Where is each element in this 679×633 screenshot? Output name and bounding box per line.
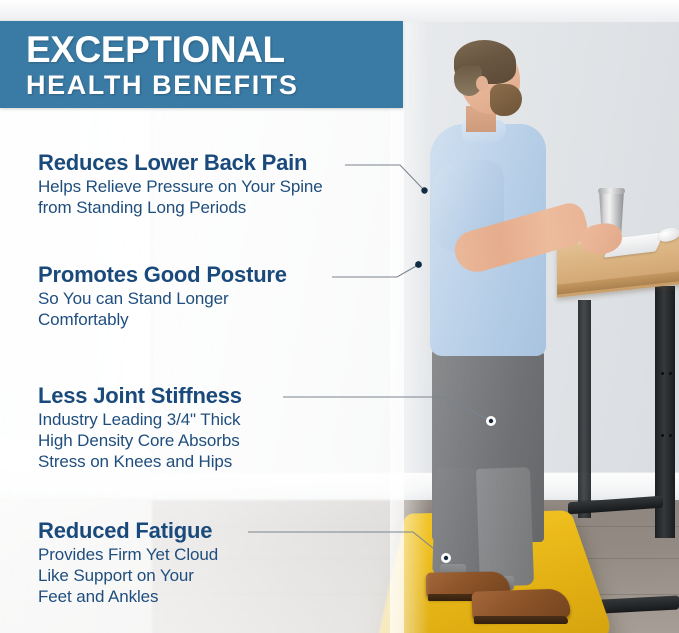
- benefit-title-3: Less Joint Stiffness: [38, 383, 242, 409]
- benefit-line-1-1: Helps Relieve Pressure on Your Spine: [38, 176, 323, 197]
- leader-line-1: [345, 165, 424, 190]
- leader-line-2: [332, 265, 418, 277]
- benefit-line-3-1: Industry Leading 3/4" Thick: [38, 409, 242, 430]
- benefit-line-4-2: Like Support on Your: [38, 565, 218, 586]
- benefit-title-2: Promotes Good Posture: [38, 262, 287, 288]
- benefit-block-2: Promotes Good Posture So You can Stand L…: [38, 262, 287, 330]
- callout-dot-1[interactable]: [421, 187, 427, 193]
- benefit-line-2-2: Comfortably: [38, 309, 287, 330]
- benefit-title-4: Reduced Fatigue: [38, 518, 218, 544]
- benefit-title-1: Reduces Lower Back Pain: [38, 150, 323, 176]
- benefit-line-1-2: from Standing Long Periods: [38, 197, 323, 218]
- benefit-line-3-2: High Density Core Absorbs: [38, 430, 242, 451]
- leader-line-3: [283, 397, 489, 420]
- benefit-block-4: Reduced Fatigue Provides Firm Yet Cloud …: [38, 518, 218, 607]
- benefit-line-4-3: Feet and Ankles: [38, 586, 218, 607]
- infographic-canvas: EXCEPTIONAL HEALTH BENEFITS Reduces Lowe…: [0, 0, 679, 633]
- benefit-block-1: Reduces Lower Back Pain Helps Relieve Pr…: [38, 150, 323, 218]
- leader-line-4: [248, 532, 444, 557]
- callout-ring-3-inner: [489, 419, 493, 423]
- benefit-block-3: Less Joint Stiffness Industry Leading 3/…: [38, 383, 242, 472]
- benefit-line-4-1: Provides Firm Yet Cloud: [38, 544, 218, 565]
- callout-ring-4-inner: [444, 556, 448, 560]
- benefit-line-3-3: Stress on Knees and Hips: [38, 451, 242, 472]
- benefit-line-2-1: So You can Stand Longer: [38, 288, 287, 309]
- callout-dot-2[interactable]: [415, 261, 422, 268]
